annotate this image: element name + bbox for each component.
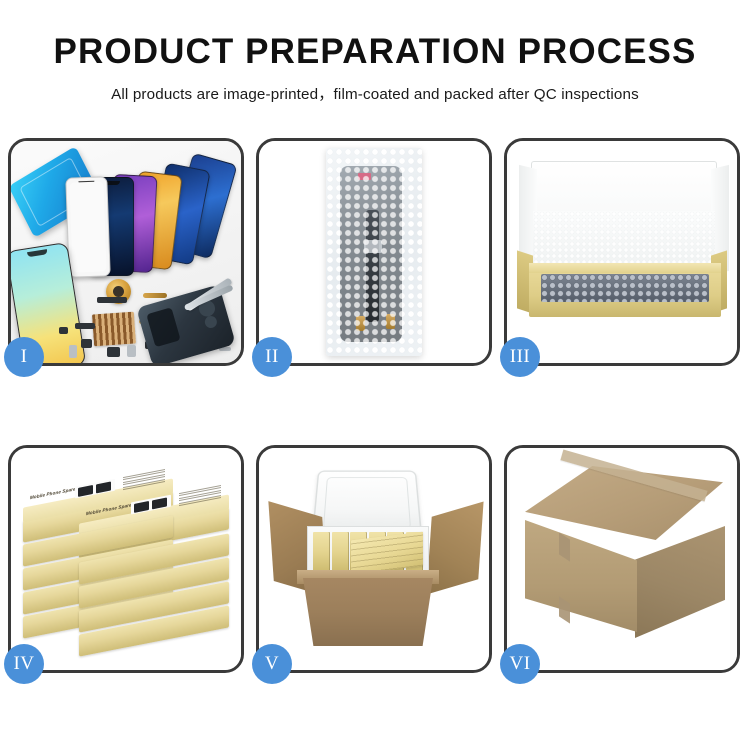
spare-part-chip-1 (81, 339, 92, 348)
step-badge-4: IV (4, 644, 44, 684)
spare-part-chip-3 (127, 345, 136, 357)
chip-array-part (92, 312, 136, 347)
step-image-2 (259, 141, 489, 363)
spare-part-bar-1 (97, 297, 127, 303)
step-badge-5: V (252, 644, 292, 684)
grey-bubble-wrap-contents (541, 274, 709, 302)
process-steps-grid: I II III (8, 138, 742, 673)
step-image-6 (507, 448, 737, 670)
page-title: PRODUCT PREPARATION PROCESS (0, 34, 750, 71)
step-image-3 (507, 141, 737, 363)
spare-part-bar-2 (75, 323, 95, 329)
step-image-1 (11, 141, 241, 363)
page-subtitle: All products are image-printed，film-coat… (0, 82, 750, 104)
spare-part-chip-2 (107, 347, 120, 357)
retail-box-stack: Mobile Phone Spare Parts Mobile Phone Sp… (17, 462, 241, 662)
flex-cable-1 (143, 293, 167, 298)
retail-box-screen-print (75, 479, 115, 499)
step-panel-6[interactable]: VI (504, 445, 740, 673)
tempered-glass-sheet (65, 176, 110, 277)
step-panel-3[interactable]: III (504, 138, 740, 366)
retail-box-spec-lines (123, 469, 165, 489)
spare-part-chip-6 (59, 327, 68, 334)
step-image-5 (259, 448, 489, 670)
glass-notch-icon (78, 181, 94, 186)
step-panel-1[interactable]: I (8, 138, 244, 366)
bubble-wrap-package (326, 148, 422, 356)
bubble-texture-overlay (326, 148, 422, 356)
step-badge-1: I (4, 337, 44, 377)
sealed-carton-front (525, 520, 637, 632)
step-image-4: Mobile Phone Spare Parts Mobile Phone Sp… (11, 448, 241, 670)
sealed-carton-side (635, 526, 725, 638)
step-badge-6: VI (500, 644, 540, 684)
step-badge-3: III (500, 337, 540, 377)
front-display-notch-icon (27, 249, 48, 257)
step-badge-2: II (252, 337, 292, 377)
step-panel-4[interactable]: Mobile Phone Spare Parts Mobile Phone Sp… (8, 445, 244, 673)
step-panel-5[interactable]: V (256, 445, 492, 673)
retail-box-spec-lines-2 (179, 485, 221, 505)
spare-part-chip-5 (69, 345, 77, 358)
carton-body (303, 578, 433, 646)
page-header: PRODUCT PREPARATION PROCESS All products… (0, 0, 750, 104)
step-panel-2[interactable]: II (256, 138, 492, 366)
